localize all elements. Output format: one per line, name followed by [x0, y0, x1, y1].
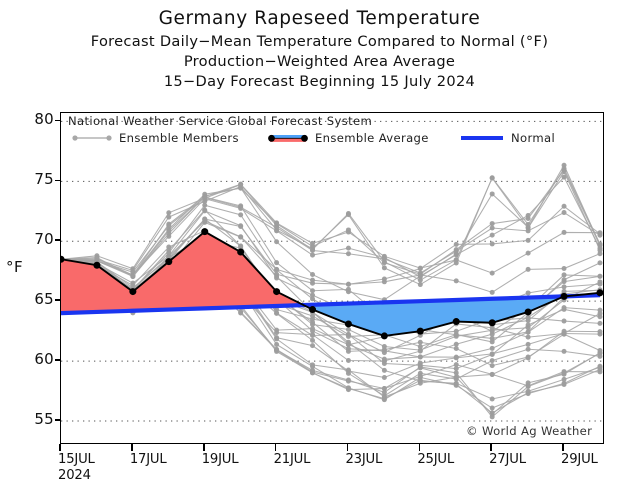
ensemble-average-point	[596, 289, 603, 296]
y-tick-70: 70	[14, 230, 54, 248]
x-tick-mark	[347, 444, 349, 451]
legend-label-ensemble-members: Ensemble Members	[119, 131, 239, 145]
ensemble-average-point	[561, 293, 568, 300]
copyright-watermark: © World Ag Weather	[466, 424, 592, 438]
ensemble-average-point	[525, 308, 532, 315]
ensemble-members-swatch-icon	[70, 131, 114, 145]
x-tick-mark	[131, 444, 133, 451]
ensemble-average-point	[93, 262, 100, 269]
y-axis-tick-labels: 807570656055	[10, 0, 54, 497]
ensemble-average-point	[237, 249, 244, 256]
chart-subtitle-2: Production−Weighted Area Average	[0, 53, 639, 70]
ensemble-average-point	[165, 258, 172, 265]
x-tick-27JUL: 27JUL	[489, 452, 526, 467]
x-tick-mark	[275, 444, 277, 451]
temperature-forecast-chart	[61, 113, 605, 445]
x-tick-21JUL: 21JUL	[274, 452, 311, 467]
ensemble-average-point	[345, 320, 352, 327]
x-tick-mark	[59, 444, 61, 451]
legend-label-normal: Normal	[511, 131, 555, 145]
plot-area	[60, 112, 604, 444]
ensemble-average-point	[417, 328, 424, 335]
ensemble-average-point	[201, 228, 208, 235]
x-tick-29JUL: 29JUL	[561, 452, 598, 467]
chart-subtitle-3: 15−Day Forecast Beginning 15 July 2024	[0, 73, 639, 90]
chart-legend: National Weather Service Global Forecast…	[66, 114, 602, 148]
ensemble-average-point	[453, 318, 460, 325]
legend-item-ensemble-members: Ensemble Members	[70, 130, 239, 146]
x-tick-mark	[203, 444, 205, 451]
normal-swatch-icon	[458, 131, 506, 145]
ensemble-average-point	[273, 288, 280, 295]
x-tick-19JUL: 19JUL	[202, 452, 239, 467]
chart-title-block: Germany Rapeseed Temperature Forecast Da…	[0, 0, 639, 90]
ensemble-average-swatch-icon	[266, 131, 310, 145]
x-tick-mark	[562, 444, 564, 451]
x-tick-mark	[419, 444, 421, 451]
legend-label-ensemble-average: Ensemble Average	[315, 131, 429, 145]
y-tick-80: 80	[14, 110, 54, 128]
ensemble-average-point	[309, 306, 316, 313]
legend-title: National Weather Service Global Forecast…	[68, 114, 372, 128]
y-tick-75: 75	[14, 170, 54, 188]
ensemble-average-point	[489, 319, 496, 326]
legend-item-normal: Normal	[458, 130, 555, 146]
legend-item-ensemble-average: Ensemble Average	[266, 130, 429, 146]
y-tick-60: 60	[14, 350, 54, 368]
x-tick-17JUL: 17JUL	[130, 452, 167, 467]
y-tick-55: 55	[14, 410, 54, 428]
chart-subtitle-1: Forecast Daily−Mean Temperature Compared…	[0, 33, 639, 50]
x-tick-23JUL: 23JUL	[345, 452, 382, 467]
x-tick-15JUL: 15JUL	[58, 452, 95, 467]
ensemble-average-point	[381, 332, 388, 339]
x-tick-25JUL: 25JUL	[417, 452, 454, 467]
y-tick-65: 65	[14, 290, 54, 308]
ensemble-average-point	[129, 288, 136, 295]
page-title: Germany Rapeseed Temperature	[0, 8, 639, 29]
x-axis-year: 2024	[58, 468, 91, 483]
x-tick-mark	[490, 444, 492, 451]
